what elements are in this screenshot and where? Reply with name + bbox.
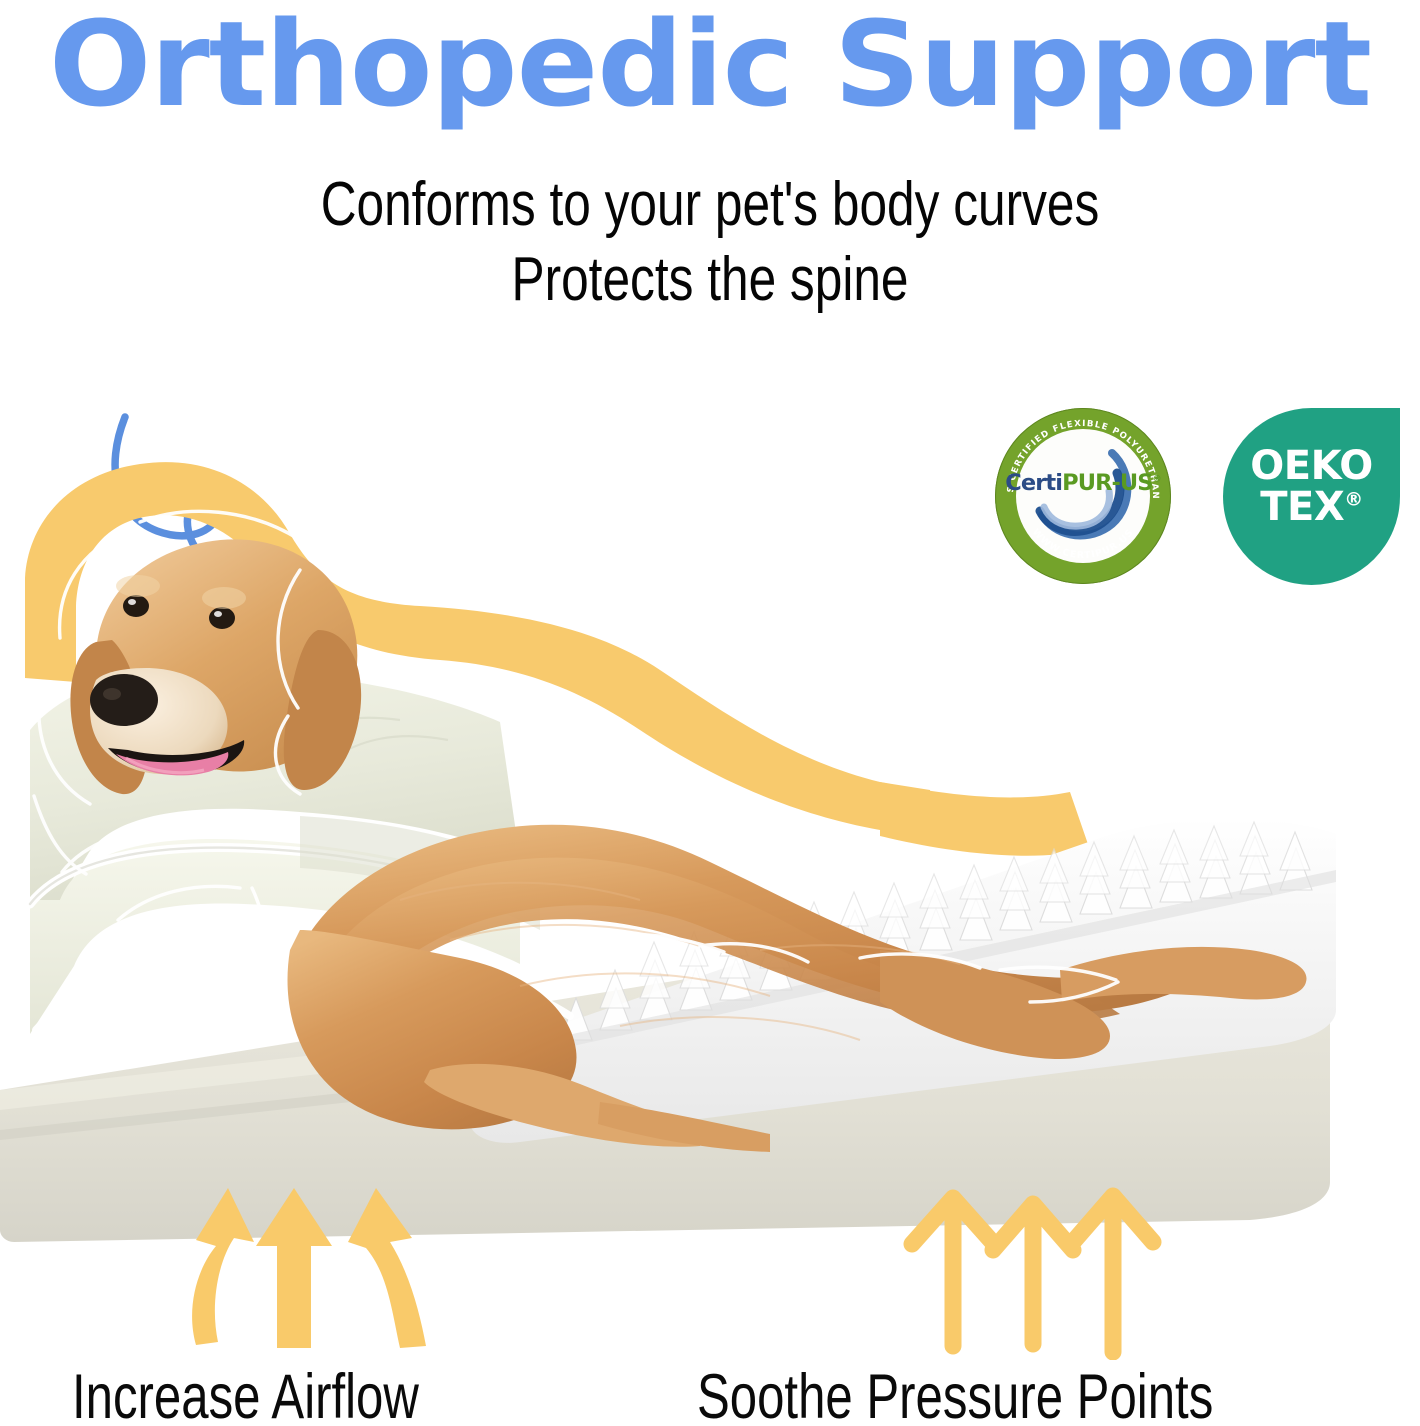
certipur-wordmark-prefix: Certi: [1005, 470, 1062, 496]
pressure-arrow-3: [1073, 1196, 1153, 1352]
certipur-wordmark: CertiPUR-US®: [995, 470, 1171, 496]
benefit-arrows: [0, 1150, 1420, 1360]
certipur-us-badge: CertiPUR-US® CONTAINS CERTIFIED FLEXIBLE…: [995, 408, 1171, 584]
product-photo: [0, 430, 1420, 1260]
certipur-registered-mark: ®: [1153, 475, 1161, 485]
certipur-wordmark-suffix: PUR-US: [1062, 470, 1153, 496]
subtitle-line-2: Protects the spine: [142, 243, 1278, 316]
soothe-pressure-arrows: [912, 1196, 1153, 1352]
caption-increase-airflow: Increase Airflow: [72, 1366, 419, 1426]
pressure-arrow-2: [993, 1204, 1073, 1344]
certipur-swoosh-icon: [1016, 429, 1150, 563]
increase-airflow-arrows: [192, 1188, 426, 1348]
page-title: Orthopedic Support: [0, 4, 1420, 124]
airflow-arrow-3: [348, 1188, 426, 1348]
pressure-arrow-1: [912, 1198, 994, 1346]
subtitle-line-1: Conforms to your pet's body curves: [142, 168, 1278, 241]
caption-soothe-pressure-points: Soothe Pressure Points: [697, 1366, 1213, 1426]
airflow-arrow-1: [192, 1188, 254, 1345]
product-infographic: Orthopedic Support Conforms to your pet'…: [0, 0, 1420, 1426]
airflow-arrow-2: [256, 1188, 332, 1348]
